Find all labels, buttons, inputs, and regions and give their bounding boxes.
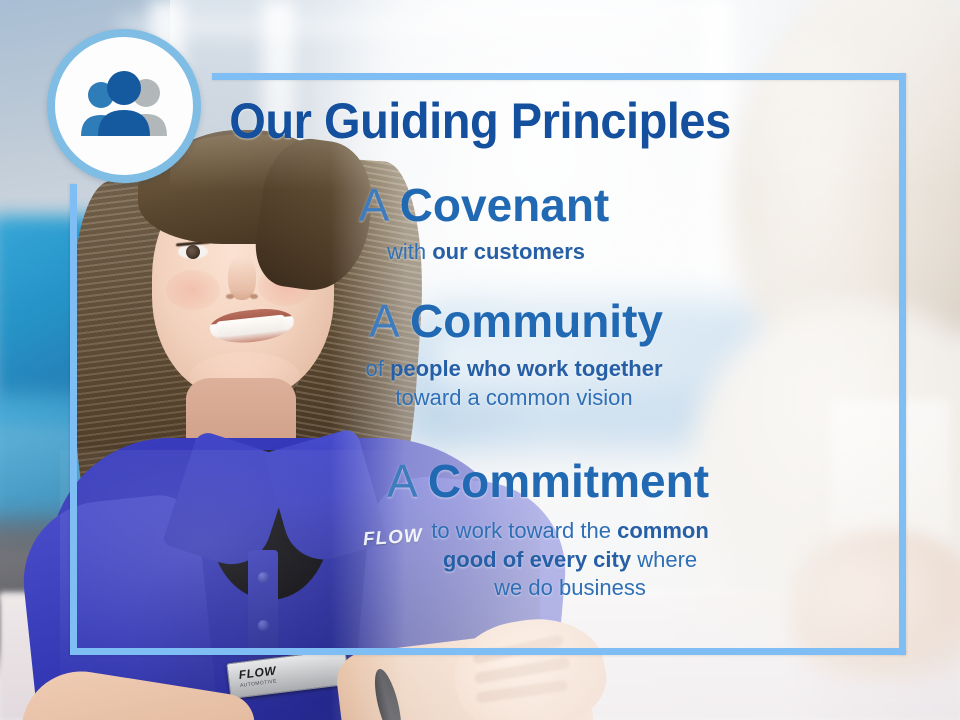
principle-lead: A [369, 295, 410, 347]
principle-heading: A Community [0, 298, 960, 345]
principle-block-covenant: A Covenant with our customers [0, 182, 960, 267]
principle-keyword: Commitment [428, 455, 709, 507]
subtext-segment-bold: our customers [432, 239, 585, 264]
guiding-principles-banner: FLOW FLOW AUTOMOTIVE [0, 0, 960, 720]
principle-subtext: with our customers [0, 238, 960, 267]
subtext-segment-bold: common [617, 518, 709, 543]
subtext-segment: where [631, 547, 697, 572]
subtext-segment: toward a common vision [395, 385, 632, 410]
principle-subtext-line: good of every city where [180, 546, 960, 575]
subtext-segment-bold: people who work together [390, 356, 663, 381]
principle-subtext: of people who work together toward a com… [0, 355, 960, 412]
principle-subtext: to work toward the common good of every … [0, 517, 960, 603]
principle-subtext-line: of people who work together [68, 355, 960, 384]
subtext-segment: of [365, 356, 389, 381]
principle-lead: A [387, 455, 428, 507]
principle-keyword: Community [410, 295, 663, 347]
principle-subtext-line: toward a common vision [68, 384, 960, 413]
principle-block-commitment: A Commitment to work toward the common g… [0, 458, 960, 603]
principle-block-community: A Community of people who work together … [0, 298, 960, 412]
principle-subtext-line: to work toward the common [180, 517, 960, 546]
principle-heading: A Covenant [0, 182, 960, 229]
subtext-segment: to work toward the [431, 518, 617, 543]
subtext-segment: with [387, 239, 432, 264]
subtext-segment: we do business [494, 575, 646, 600]
page-title: Our Guiding Principles [29, 92, 931, 150]
principle-subtext-line: we do business [180, 574, 960, 603]
principle-lead: A [359, 179, 400, 231]
principle-keyword: Covenant [400, 179, 610, 231]
subtext-segment-bold: good of every city [443, 547, 631, 572]
principle-heading: A Commitment [0, 458, 960, 505]
principle-subtext-line: with our customers [12, 238, 960, 267]
